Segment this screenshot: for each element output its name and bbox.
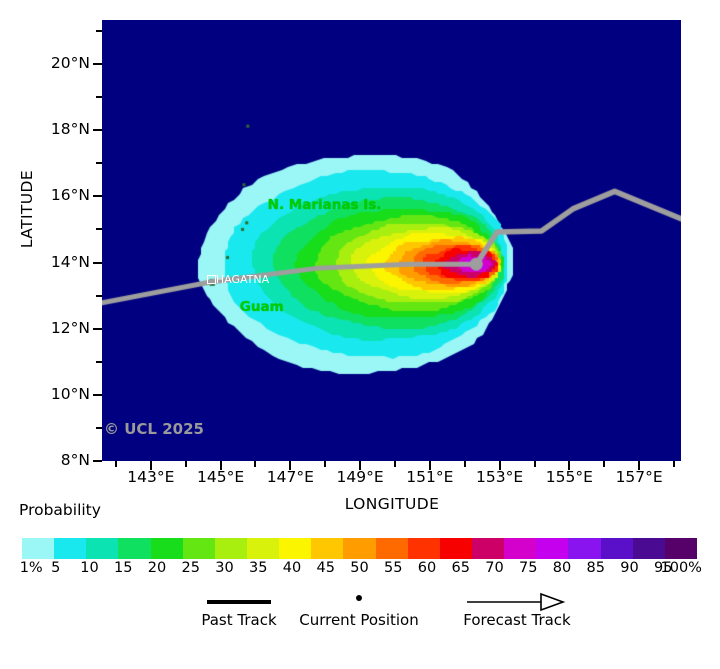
colorbar-tick-label: 85: [587, 561, 605, 576]
legend-label: Current Position: [274, 612, 444, 629]
x-tick-minor: [534, 461, 536, 467]
x-tick-minor: [115, 461, 117, 467]
colorbar-tick-label: 10: [80, 561, 98, 576]
probability-contour-canvas: [102, 20, 681, 461]
colorbar-segment: [215, 538, 247, 559]
y-tick-label: 18°N: [20, 122, 90, 138]
copyright-notice: © UCL 2025: [104, 420, 204, 438]
colorbar-tick-label: 30: [215, 561, 233, 576]
colorbar-segment: [151, 538, 183, 559]
past-track-line-icon: [207, 600, 271, 604]
y-tick-major: [93, 262, 102, 264]
colorbar-tick-label: 60: [418, 561, 436, 576]
x-tick-minor: [254, 461, 256, 467]
colorbar-tick-labels: 1%51015202530354045505560657075808590951…: [22, 561, 697, 579]
forecast-track-arrow-icon: [465, 592, 569, 612]
x-tick-minor: [324, 461, 326, 467]
y-tick-major: [93, 129, 102, 131]
region-label-n-marianas-is: N. Marianas Is.: [268, 197, 382, 213]
colorbar-tick-label: 1%: [20, 561, 43, 576]
y-tick-minor: [96, 427, 102, 429]
y-tick-label: 14°N: [20, 255, 90, 271]
y-tick-label: 10°N: [20, 387, 90, 403]
hagatna-city-marker: [207, 275, 216, 284]
colorbar-tick-label: 70: [485, 561, 503, 576]
colorbar-segment: [633, 538, 665, 559]
y-tick-label: 20°N: [20, 56, 90, 72]
x-tick-label: 145°E: [181, 470, 261, 486]
colorbar-segment: [504, 538, 536, 559]
hagatna-city-label: HAGATNA: [216, 273, 269, 286]
colorbar-tick-label: 75: [519, 561, 537, 576]
y-tick-minor: [96, 228, 102, 230]
colorbar-segment: [440, 538, 472, 559]
x-tick-minor: [603, 461, 605, 467]
colorbar-segment: [568, 538, 600, 559]
x-tick-label: 149°E: [320, 470, 400, 486]
legend-label: Forecast Track: [432, 612, 602, 629]
legend-item-forecast-track: Forecast Track: [432, 590, 602, 629]
probability-map-plot: HAGATNA © UCL 2025 N. Marianas Is.Guam: [102, 20, 681, 461]
colorbar-tick-label: 45: [317, 561, 335, 576]
colorbar-segment: [343, 538, 375, 559]
region-label-guam: Guam: [240, 299, 284, 315]
colorbar-tick-label: 20: [148, 561, 166, 576]
x-tick-minor: [464, 461, 466, 467]
colorbar-segment: [118, 538, 150, 559]
y-tick-major: [93, 195, 102, 197]
y-tick-minor: [96, 96, 102, 98]
colorbar-tick-label: 40: [283, 561, 301, 576]
y-tick-major: [93, 63, 102, 65]
colorbar-segment: [22, 538, 54, 559]
colorbar-tick-label: 5: [51, 561, 60, 576]
current-position-dot-icon: [356, 595, 362, 601]
legend-item-current-position: Current Position: [274, 590, 444, 629]
y-tick-label: 12°N: [20, 321, 90, 337]
colorbar-segment: [183, 538, 215, 559]
colorbar-tick-label: 35: [249, 561, 267, 576]
colorbar-segment: [472, 538, 504, 559]
colorbar-segment: [279, 538, 311, 559]
x-tick-minor: [673, 461, 675, 467]
y-tick-major: [93, 394, 102, 396]
colorbar-tick-label: 55: [384, 561, 402, 576]
x-tick-minor: [185, 461, 187, 467]
colorbar-tick-label: 50: [350, 561, 368, 576]
colorbar-segment: [665, 538, 697, 559]
y-tick-minor: [96, 361, 102, 363]
colorbar-tick-label: 25: [182, 561, 200, 576]
colorbar-segment: [408, 538, 440, 559]
map-legend: Past TrackCurrent PositionForecast Track: [0, 590, 720, 640]
x-tick-label: 157°E: [599, 470, 679, 486]
x-tick-minor: [394, 461, 396, 467]
colorbar-segment: [536, 538, 568, 559]
colorbar-caption: Probability: [19, 501, 101, 519]
x-tick-label: 153°E: [460, 470, 540, 486]
x-tick-label: 151°E: [390, 470, 470, 486]
x-tick-label: 143°E: [111, 470, 191, 486]
x-tick-label: 147°E: [250, 470, 330, 486]
colorbar-tick-label: 90: [620, 561, 638, 576]
colorbar-tick-label: 15: [114, 561, 132, 576]
colorbar-segment: [86, 538, 118, 559]
colorbar-tick-label: 80: [553, 561, 571, 576]
colorbar-segment: [54, 538, 86, 559]
colorbar-segment: [247, 538, 279, 559]
y-tick-minor: [96, 162, 102, 164]
y-tick-minor: [96, 295, 102, 297]
colorbar-segment: [311, 538, 343, 559]
colorbar-tick-label: 100%: [661, 561, 702, 576]
colorbar-segment: [601, 538, 633, 559]
x-tick-label: 155°E: [529, 470, 609, 486]
y-tick-label: 16°N: [20, 188, 90, 204]
y-tick-major: [93, 460, 102, 462]
probability-colorbar: [22, 538, 697, 559]
y-tick-label: 8°N: [20, 453, 90, 469]
y-tick-major: [93, 328, 102, 330]
colorbar-tick-label: 65: [452, 561, 470, 576]
y-tick-minor: [96, 30, 102, 32]
x-axis-title: LONGITUDE: [312, 495, 472, 513]
colorbar-segment: [376, 538, 408, 559]
